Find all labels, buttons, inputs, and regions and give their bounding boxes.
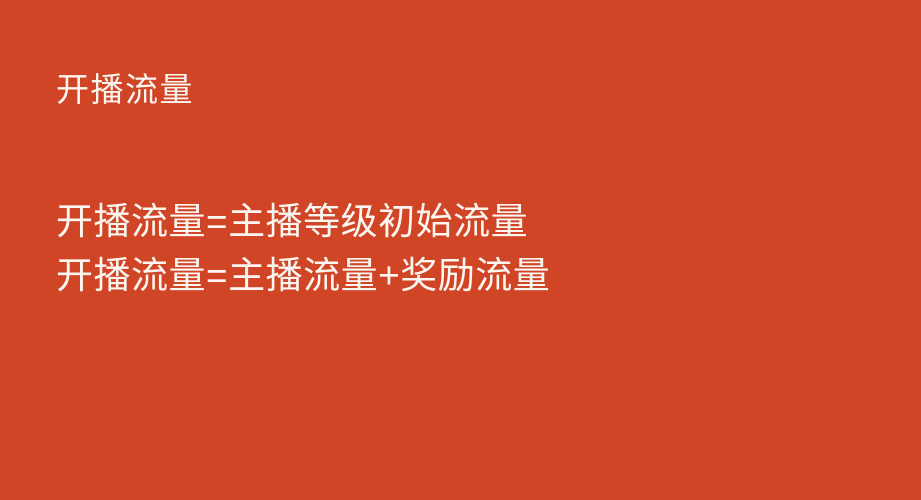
page-title: 开播流量 [56, 68, 194, 112]
formula-line-2: 开播流量=主播流量+奖励流量 [56, 257, 550, 295]
formula-list: 开播流量=主播等级初始流量 开播流量=主播流量+奖励流量 [56, 203, 550, 295]
slide-canvas: 开播流量 开播流量=主播等级初始流量 开播流量=主播流量+奖励流量 [0, 0, 921, 500]
formula-line-1: 开播流量=主播等级初始流量 [56, 203, 550, 241]
